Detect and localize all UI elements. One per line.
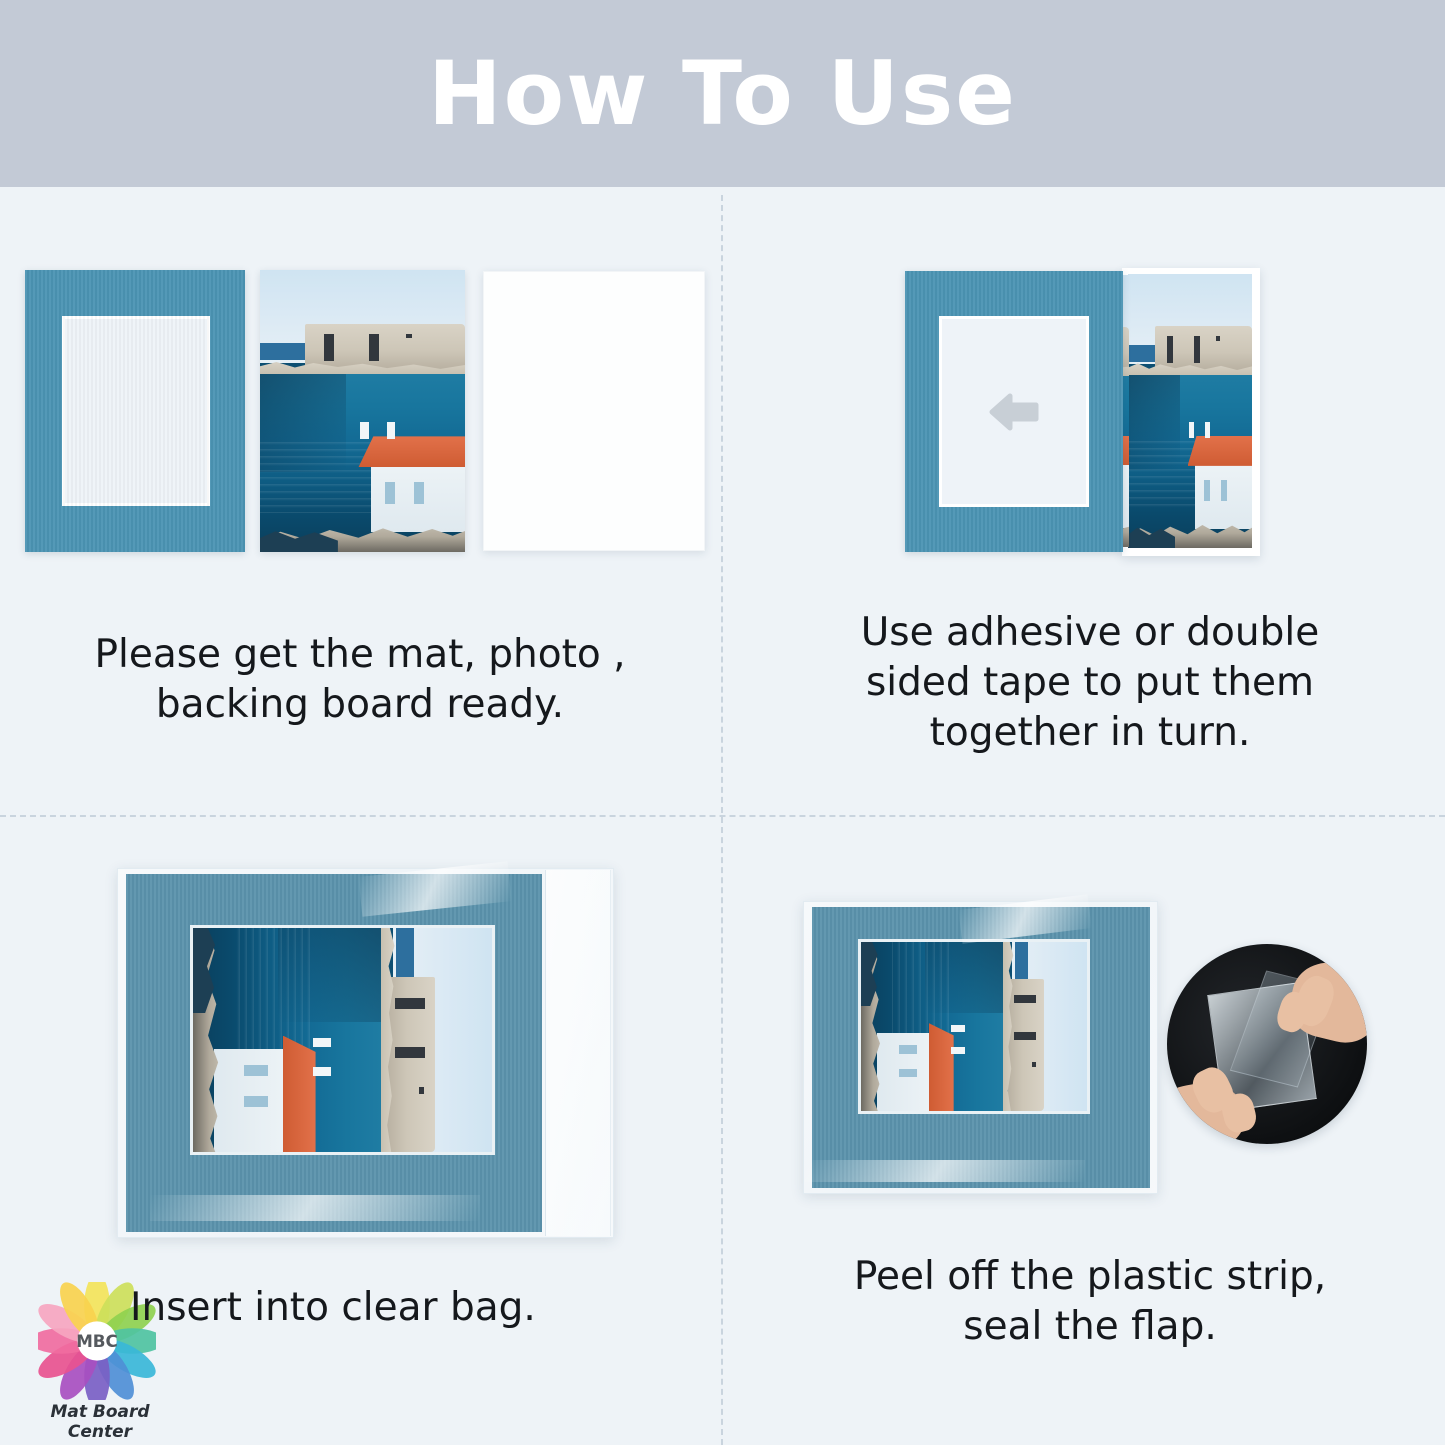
peel-strip-inset xyxy=(1167,944,1367,1144)
page-title: How To Use xyxy=(428,50,1017,138)
backing-board xyxy=(483,271,705,551)
mat-board xyxy=(905,271,1123,552)
photo-window xyxy=(385,482,395,505)
arrow-left-icon xyxy=(984,390,1044,434)
photo-chimney xyxy=(360,422,368,439)
photo-roof xyxy=(358,436,465,467)
step-2-caption: Use adhesive or double sided tape to put… xyxy=(800,608,1380,758)
bag-flap xyxy=(545,870,611,1236)
mat-window-opening xyxy=(62,316,210,506)
page-header: How To Use xyxy=(0,0,1445,187)
mat-board xyxy=(25,270,245,552)
photo-window-landscape xyxy=(190,925,495,1155)
brand-name: Mat Board Center xyxy=(30,1402,170,1442)
photo-chimney xyxy=(387,422,395,439)
step-3-caption: Insert into clear bag. xyxy=(130,1283,600,1333)
mat-window-opening xyxy=(939,316,1089,507)
photo-window-landscape xyxy=(858,939,1090,1114)
photo-window xyxy=(414,482,424,505)
photo-fortress-wall xyxy=(305,324,465,369)
infographic-page: How To Use Please get the mat, photo , b… xyxy=(0,0,1445,1445)
svg-text:MBC: MBC xyxy=(76,1331,118,1351)
photo-print xyxy=(260,270,465,552)
step-4-caption: Peel off the plastic strip, seal the fla… xyxy=(800,1252,1380,1352)
photo-print xyxy=(1122,268,1260,556)
step-1-caption: Please get the mat, photo , backing boar… xyxy=(40,630,680,730)
